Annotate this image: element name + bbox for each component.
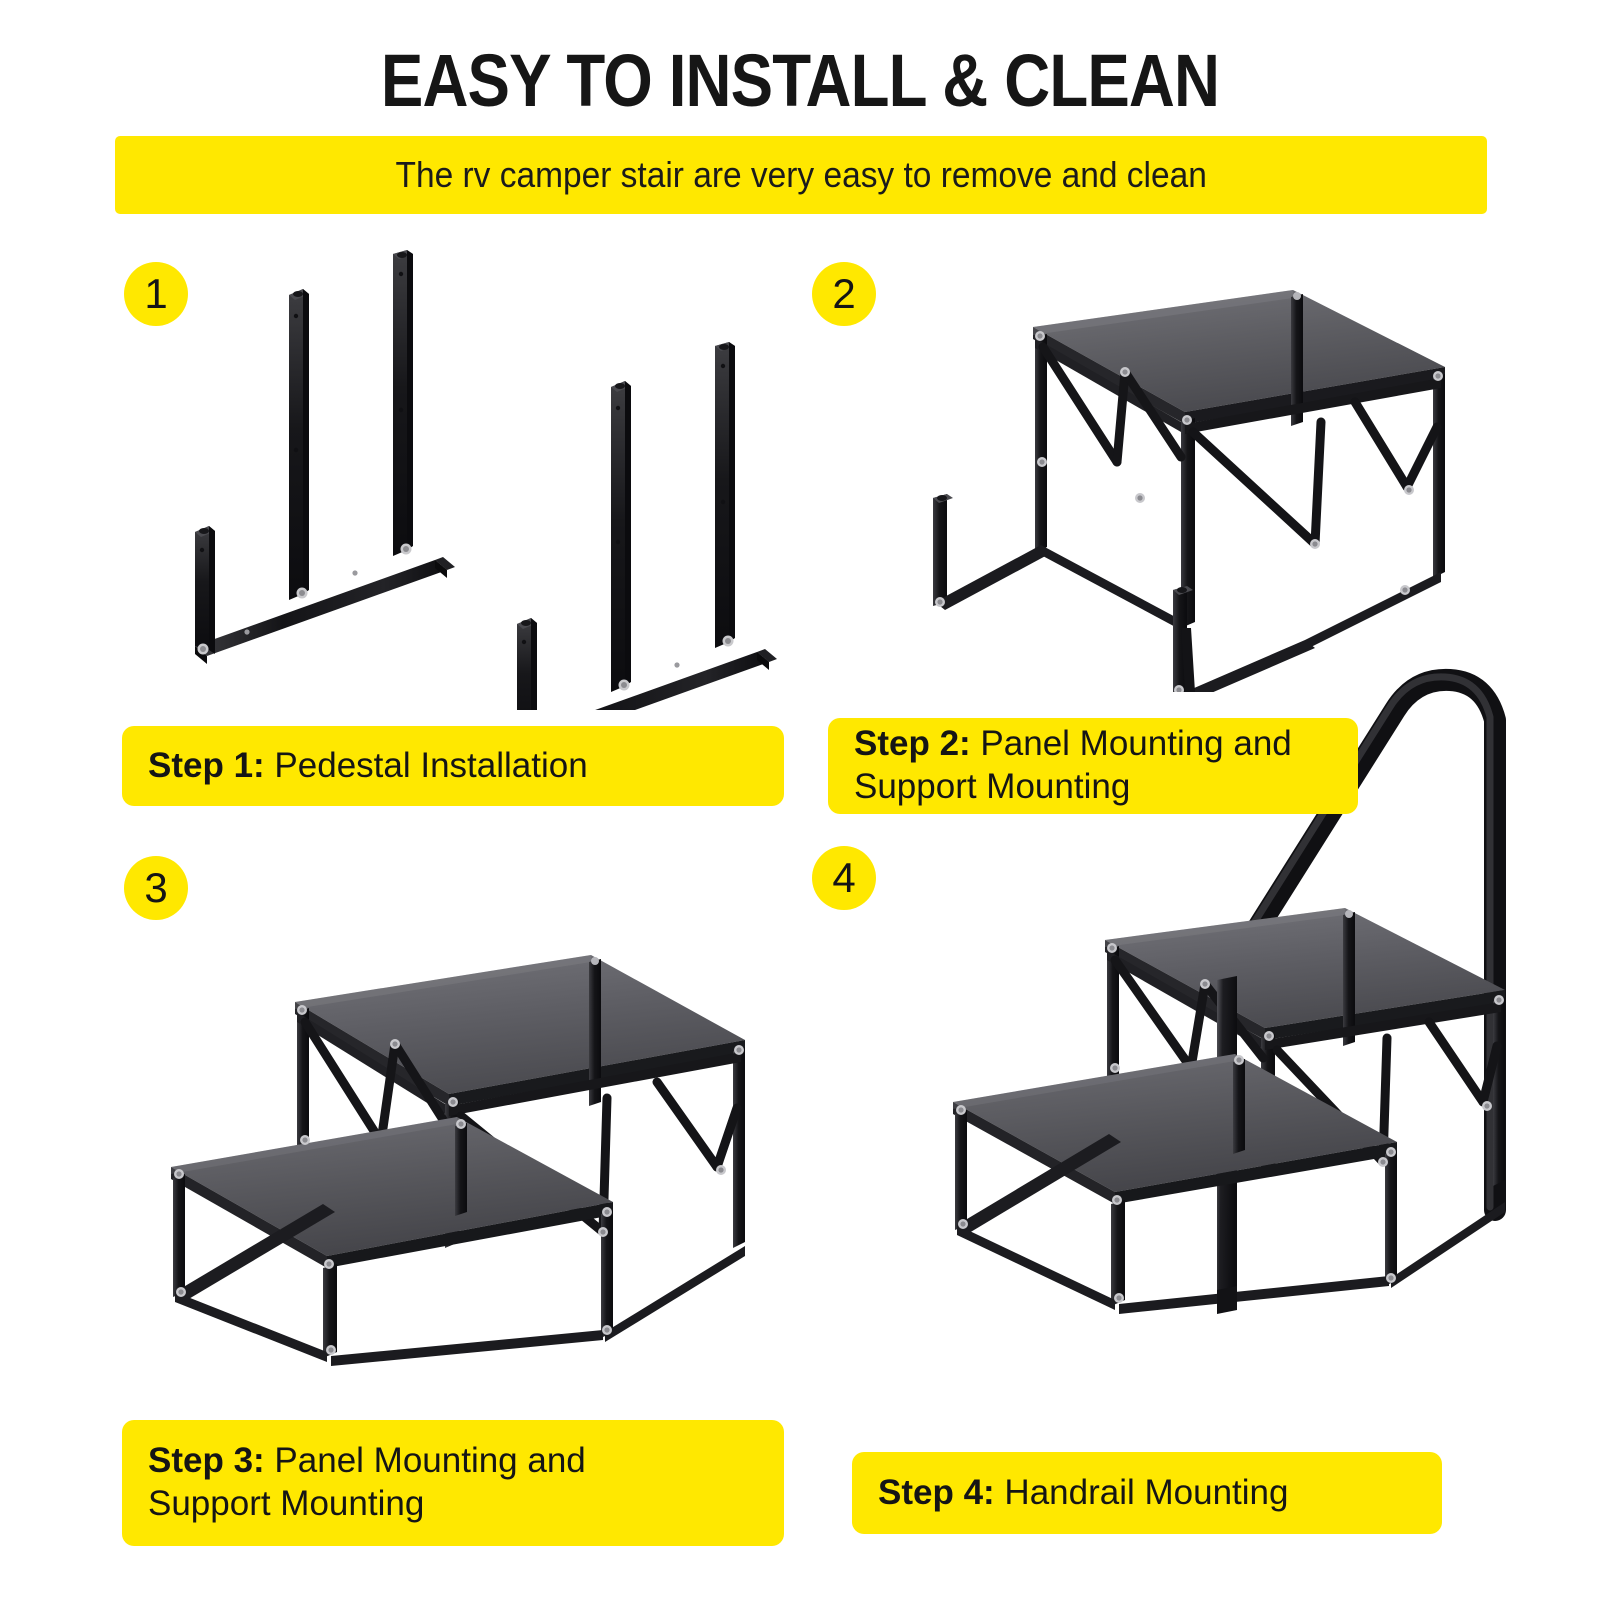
step-badge-3: 3 — [124, 856, 188, 920]
step-caption-4: Step 4: Handrail Mounting — [852, 1452, 1442, 1534]
step-badge-4: 4 — [812, 846, 876, 910]
subtitle-banner: The rv camper stair are very easy to rem… — [115, 136, 1487, 214]
page-title: EASY TO INSTALL & CLEAN — [112, 38, 1488, 123]
lower-step-panel — [953, 1054, 1397, 1204]
top-step-panel — [1033, 290, 1445, 424]
upper-step-panel — [295, 955, 745, 1106]
step-2-text: Panel Mounting and — [971, 724, 1292, 763]
step-3-illustration — [145, 912, 785, 1382]
lower-step-panel — [171, 1117, 613, 1268]
step-caption-3: Step 3: Panel Mounting and Support Mount… — [122, 1420, 784, 1546]
step-caption-2: Step 2: Panel Mounting and Support Mount… — [828, 718, 1358, 814]
step-3-text-line2: Support Mounting — [148, 1483, 586, 1526]
step-1-illustration — [165, 250, 785, 710]
pedestal-frame-right — [517, 342, 777, 710]
step-2-illustration — [885, 272, 1495, 692]
step-2-text-line2: Support Mounting — [854, 766, 1292, 809]
step-1-text: Pedestal Installation — [265, 746, 588, 785]
step-badge-1: 1 — [124, 262, 188, 326]
step-3-prefix: Step 3: — [148, 1441, 265, 1480]
step-caption-1: Step 1: Pedestal Installation — [122, 726, 784, 806]
step-badge-2: 2 — [812, 262, 876, 326]
step-1-prefix: Step 1: — [148, 746, 265, 785]
step-3-text: Panel Mounting and — [265, 1441, 586, 1480]
pedestal-frame-left — [195, 250, 455, 664]
subtitle-text: The rv camper stair are very easy to rem… — [395, 154, 1206, 196]
handrail-post-foot — [1217, 1286, 1237, 1314]
step-4-prefix: Step 4: — [878, 1473, 995, 1512]
step-2-prefix: Step 2: — [854, 724, 971, 763]
step-4-text: Handrail Mounting — [995, 1473, 1289, 1512]
infographic-page: EASY TO INSTALL & CLEAN The rv camper st… — [0, 0, 1600, 1600]
